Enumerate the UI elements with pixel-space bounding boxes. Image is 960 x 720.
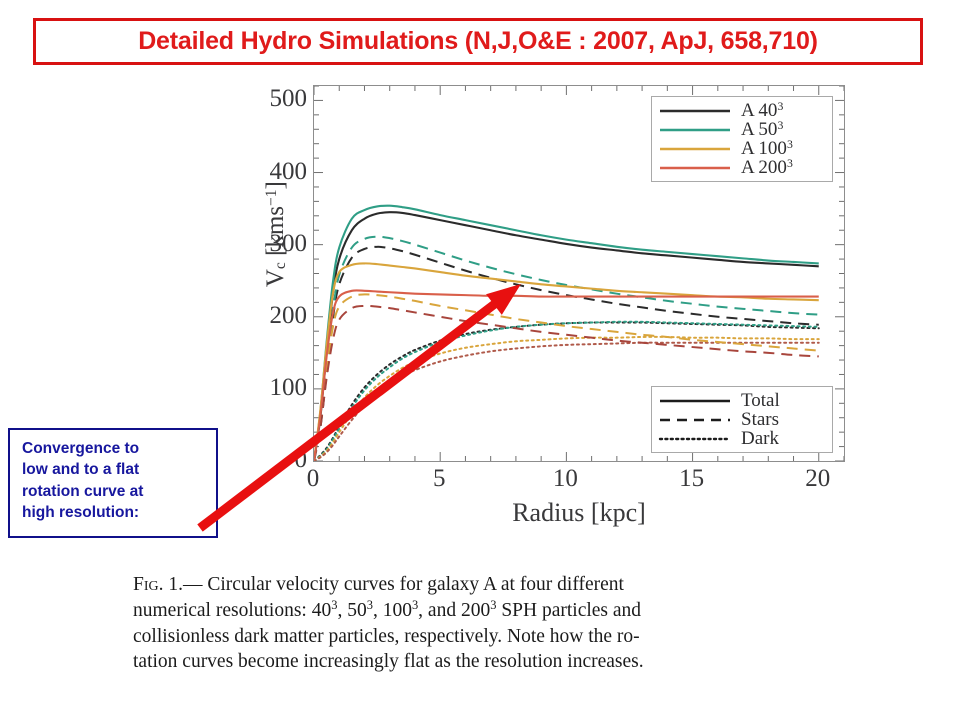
legend-line-icon	[658, 161, 732, 175]
legend-label-resolution: A 1003	[741, 139, 793, 158]
legend-label-component: Total	[741, 391, 780, 410]
legend-line-icon	[658, 123, 732, 137]
slide-root: Detailed Hydro Simulations (N,J,O&E : 20…	[0, 0, 960, 720]
caption-line-2: numerical resolutions: 403, 503, 1003, a…	[133, 597, 833, 623]
legend-swatch-line	[658, 394, 732, 408]
x-tick-label: 10	[535, 466, 595, 491]
legend-row-resolution: A 503	[658, 120, 824, 139]
legend-label-resolution: A 503	[741, 120, 783, 139]
legend-swatch-line	[658, 413, 732, 427]
legend-label-resolution: A 403	[741, 101, 783, 120]
legend-row-resolution: A 2003	[658, 158, 824, 177]
legend-line-icon	[658, 394, 732, 408]
legend-swatch-line	[658, 432, 732, 446]
callout-line-2: low and to a flat	[22, 461, 139, 478]
title-banner: Detailed Hydro Simulations (N,J,O&E : 20…	[33, 18, 923, 65]
legend-swatch-line	[658, 161, 732, 175]
legend-label-resolution: A 2003	[741, 158, 793, 177]
x-axis-title: Radius [kpc]	[313, 498, 845, 528]
plot-area: A 403A 503A 1003A 2003 TotalStarsDark	[313, 85, 845, 462]
caption-line-4: tation curves become increasingly flat a…	[133, 649, 833, 674]
legend-line-icon	[658, 413, 732, 427]
caption-line-3: collisionless dark matter particles, res…	[133, 624, 833, 649]
x-axis-tick-labels: 05101520	[313, 466, 845, 500]
legend-row-resolution: A 403	[658, 101, 824, 120]
legend-resolutions: A 403A 503A 1003A 2003	[651, 96, 833, 182]
legend-line-icon	[658, 104, 732, 118]
y-axis-title: Vc [kms−1]	[262, 154, 290, 314]
page-title: Detailed Hydro Simulations (N,J,O&E : 20…	[138, 27, 818, 56]
x-tick-label: 0	[283, 466, 343, 491]
callout-line-4: high resolution:	[22, 504, 139, 521]
callout-line-3: rotation curve at	[22, 483, 143, 500]
legend-swatch-line	[658, 104, 732, 118]
legend-row-component: Stars	[658, 410, 824, 429]
legend-swatch-line	[658, 123, 732, 137]
x-tick-label: 15	[662, 466, 722, 491]
legend-row-resolution: A 1003	[658, 139, 824, 158]
callout-line-1: Convergence to	[22, 440, 139, 457]
legend-label-component: Dark	[741, 429, 779, 448]
y-tick-label: 500	[237, 86, 307, 111]
x-tick-label: 20	[788, 466, 848, 491]
legend-row-component: Total	[658, 391, 824, 410]
legend-components: TotalStarsDark	[651, 386, 833, 453]
x-tick-label: 5	[409, 466, 469, 491]
legend-swatch-line	[658, 142, 732, 156]
callout-text: Convergence to low and to a flat rotatio…	[22, 438, 208, 524]
y-tick-label: 100	[237, 375, 307, 400]
caption-line-1: Fig. 1.— Circular velocity curves for ga…	[133, 572, 833, 597]
legend-line-icon	[658, 432, 732, 446]
figure-caption: Fig. 1.— Circular velocity curves for ga…	[133, 572, 833, 674]
legend-row-component: Dark	[658, 429, 824, 448]
legend-line-icon	[658, 142, 732, 156]
callout-box: Convergence to low and to a flat rotatio…	[8, 428, 218, 538]
legend-label-component: Stars	[741, 410, 779, 429]
